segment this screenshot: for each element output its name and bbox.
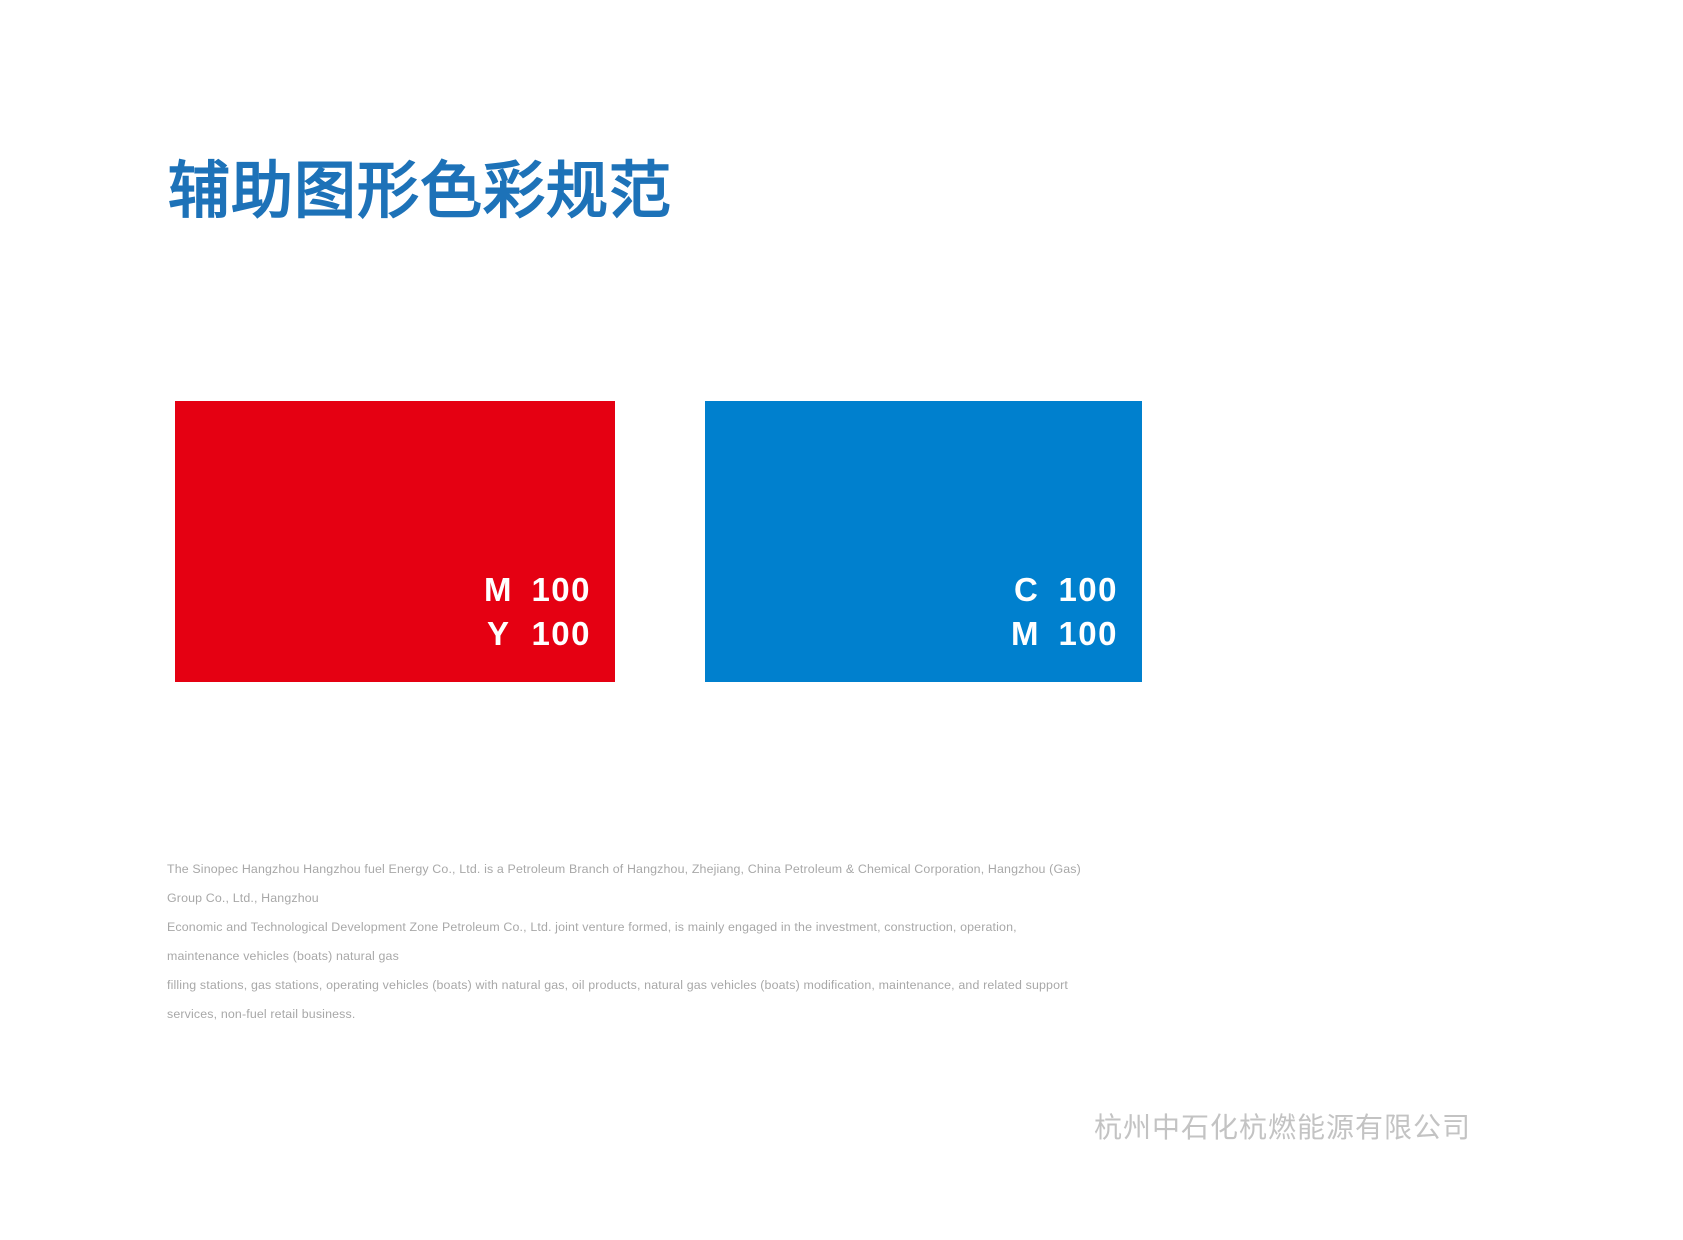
blue-color-swatch: C100 M100 (705, 401, 1142, 682)
color-swatch-row: M100 Y100 C100 M100 (175, 401, 1145, 682)
description-line-3: filling stations, gas stations, operatin… (167, 971, 1087, 1029)
red-swatch-channel-1: M (484, 568, 513, 612)
blue-swatch-value-line-1: C100 (1011, 568, 1118, 612)
blue-swatch-amount-2: 100 (1040, 612, 1118, 656)
blue-swatch-amount-1: 100 (1040, 568, 1118, 612)
page-title: 辅助图形色彩规范 (168, 154, 672, 230)
blue-swatch-value-line-2: M100 (1011, 612, 1118, 656)
red-swatch-channel-2: Y (487, 612, 513, 656)
red-swatch-value-line-1: M100 (484, 568, 591, 612)
red-swatch-value-line-2: Y100 (484, 612, 591, 656)
blue-swatch-channel-2: M (1011, 612, 1040, 656)
red-swatch-amount-1: 100 (513, 568, 591, 612)
slide-page: 辅助图形色彩规范 M100 Y100 C100 M100 (0, 0, 1683, 1240)
red-swatch-values: M100 Y100 (484, 568, 591, 656)
description-line-1: The Sinopec Hangzhou Hangzhou fuel Energ… (167, 855, 1087, 913)
footer-company-name: 杭州中石化杭燃能源有限公司 (1094, 1109, 1471, 1147)
description-paragraph: The Sinopec Hangzhou Hangzhou fuel Energ… (167, 855, 1087, 1029)
blue-swatch-channel-1: C (1014, 568, 1040, 612)
blue-swatch-values: C100 M100 (1011, 568, 1118, 656)
description-line-2: Economic and Technological Development Z… (167, 913, 1087, 971)
red-color-swatch: M100 Y100 (175, 401, 615, 682)
red-swatch-amount-2: 100 (513, 612, 591, 656)
